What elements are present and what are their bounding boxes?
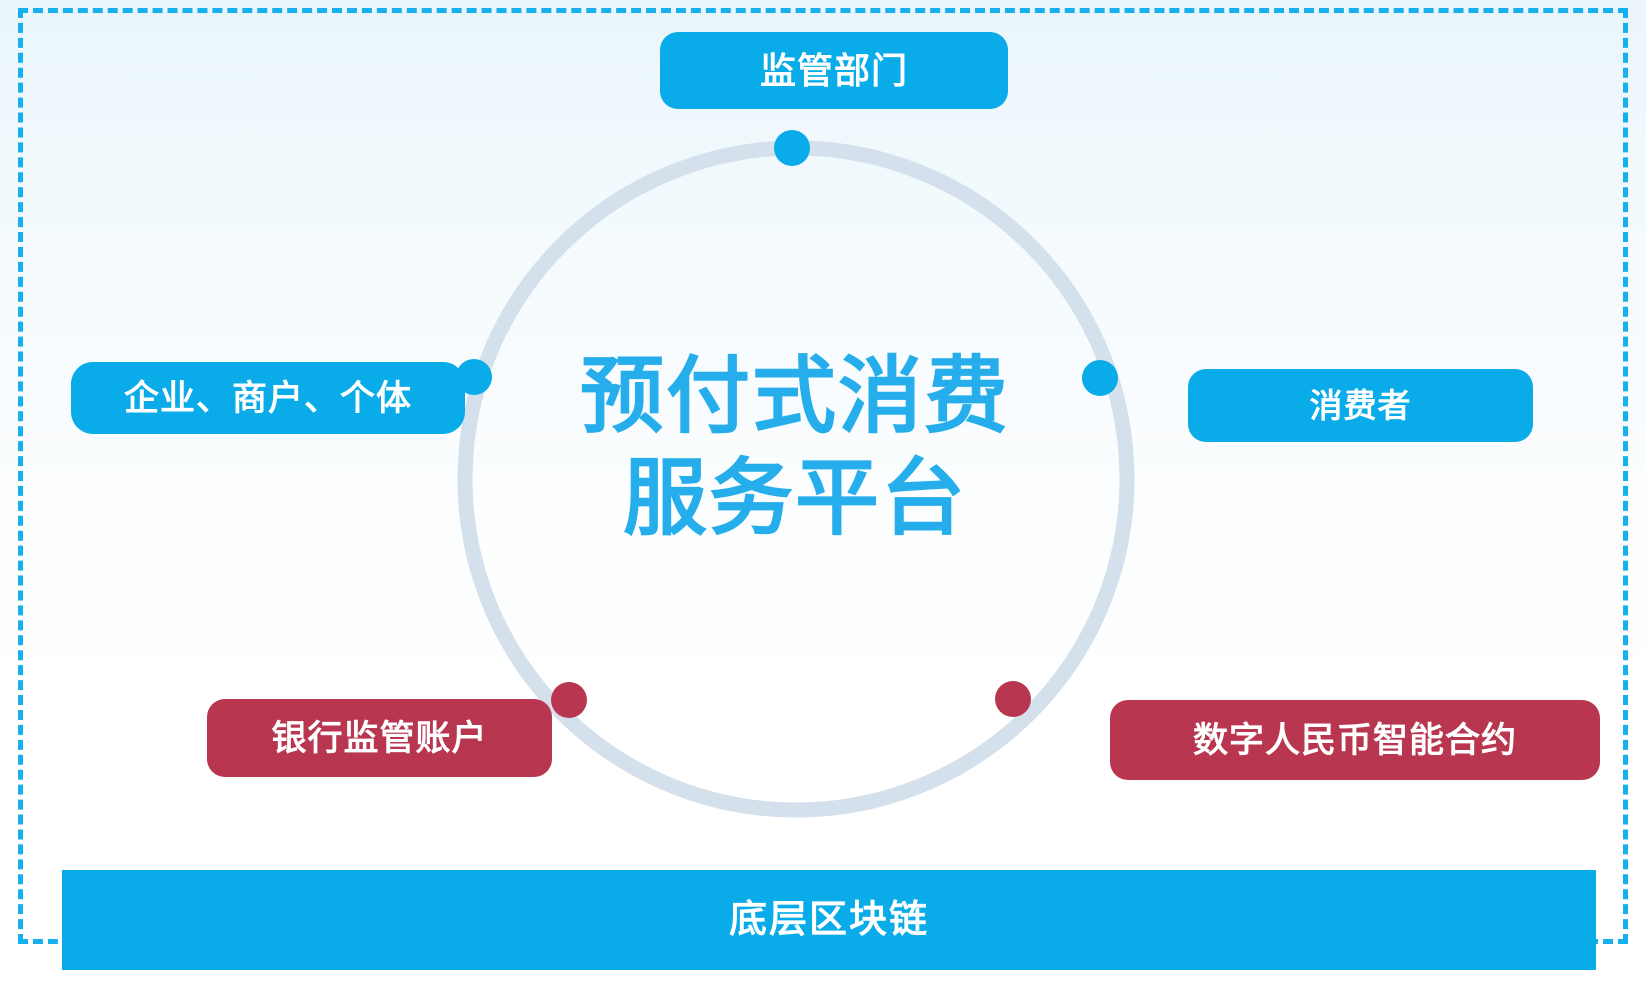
platform-title: 预付式消费 服务平台 [520,345,1070,550]
ring-dot-top [774,130,810,166]
node-bank-supervision-account[interactable]: 银行监管账户 [207,699,552,777]
node-regulator[interactable]: 监管部门 [660,32,1008,109]
node-businesses[interactable]: 企业、商户、个体 [71,362,465,434]
node-consumers[interactable]: 消费者 [1188,369,1533,442]
platform-title-line-1: 预付式消费 [520,345,1070,447]
platform-title-line-2: 服务平台 [520,447,1070,549]
foundation-blockchain-bar[interactable]: 底层区块链 [62,870,1596,970]
ring-dot-bottom-right [995,681,1031,717]
ring-dot-bottom-left [551,682,587,718]
node-digital-rmb-smart-contract[interactable]: 数字人民币智能合约 [1110,700,1600,780]
ring-dot-right [1082,360,1118,396]
diagram-canvas: 预付式消费 服务平台 监管部门 企业、商户、个体 消费者 银行监管账户 数字人民… [0,0,1646,1000]
